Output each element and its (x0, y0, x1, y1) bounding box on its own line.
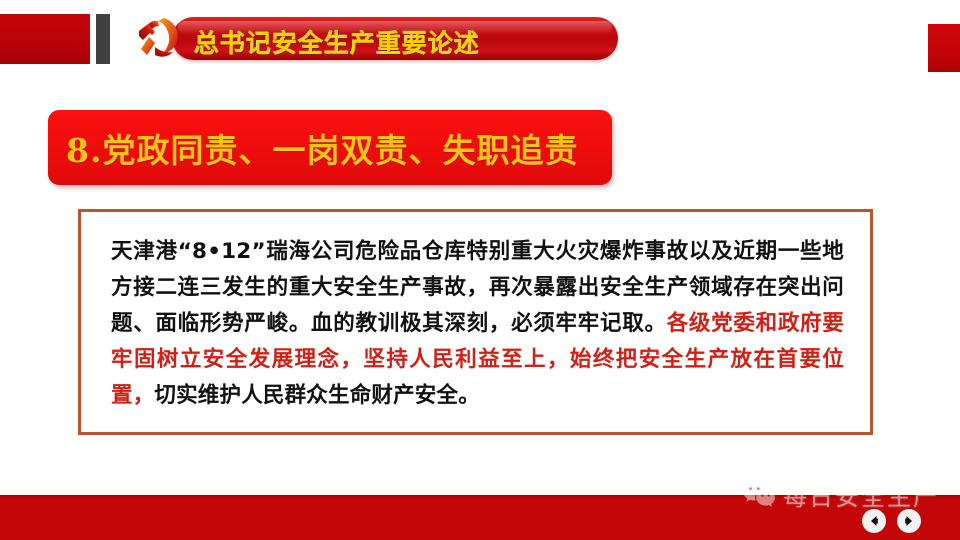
section-heading-banner: 8.党政同责、一岗双责、失职追责 (48, 110, 612, 185)
arrow-right-icon (902, 514, 916, 528)
content-paragraph: 天津港“8•12”瑞海公司危险品仓库特别重大火灾爆炸事故以及近期一些地方接二连三… (111, 234, 844, 414)
slide-canvas: 总书记安全生产重要论述 8.党政同责、一岗双责、失职追责 天津港“8•12”瑞海… (0, 0, 960, 540)
party-emblem-icon (131, 13, 183, 65)
navigation-controls (862, 509, 921, 533)
prev-slide-button[interactable] (862, 509, 886, 533)
arrow-left-icon (867, 514, 881, 528)
content-box: 天津港“8•12”瑞海公司危险品仓库特别重大火灾爆炸事故以及近期一些地方接二连三… (78, 209, 873, 435)
next-slide-button[interactable] (897, 509, 921, 533)
gray-bar-decoration (96, 14, 110, 64)
section-heading-text: 8.党政同责、一岗双责、失职追责 (66, 124, 578, 172)
page-title: 总书记安全生产重要论述 (194, 24, 480, 60)
watermark: 每日安全生产 (742, 477, 939, 512)
wechat-icon (742, 480, 776, 510)
watermark-text: 每日安全生产 (783, 477, 939, 512)
red-block-decoration-right (928, 24, 960, 72)
red-block-decoration-left (0, 14, 90, 64)
content-segment-plain-2: 切实维护人民群众生命财产安全。 (154, 383, 480, 408)
